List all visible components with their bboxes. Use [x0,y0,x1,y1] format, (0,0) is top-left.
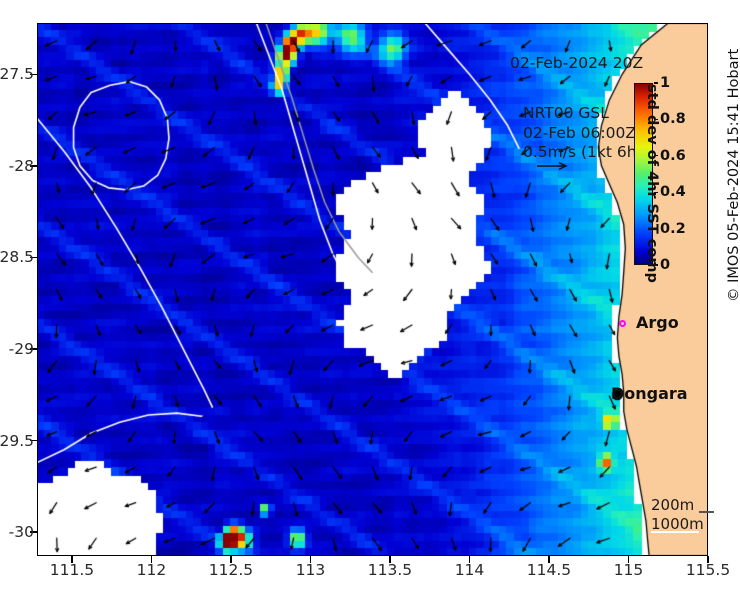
x-tick-label: 114 [455,561,485,579]
y-tick-label: -28 [0,157,34,175]
colorbar-tick-label: 0.6 [660,148,686,164]
colorbar-title: std dev of 4hr SST comp [644,84,660,266]
reference-arrow-icon [536,161,570,171]
sst-map-figure: 02-Feb-2024 20Z NRT00 GSL 02-Feb 06:00Z … [0,0,740,592]
vector-scale-label: 0.5m/s (1kt 6h) [523,143,643,161]
x-tick-label: 112.5 [209,561,253,579]
x-tick-label: 113 [296,561,326,579]
y-tick-label: -29 [0,340,34,358]
colorbar-tick-label: 0 [660,257,670,273]
x-tick-label: 115.5 [686,561,730,579]
colorbar-tick-label: 0.8 [660,111,686,127]
x-tick-label: 115 [614,561,644,579]
argo-legend-label: Argo [636,313,679,332]
x-tick-label: 111.5 [50,561,94,579]
model-info-block: NRT00 GSL 02-Feb 06:00Z 0.5m/s (1kt 6h) [523,104,643,163]
y-tick-label: -28.5 [0,248,34,266]
dongara-place-label: Dongara [611,384,688,403]
depth-200m-line-sample [699,511,714,513]
x-tick-label: 112 [137,561,167,579]
colorbar-tick-label: 0.4 [660,184,686,200]
argo-marker-icon [619,320,626,327]
colorbar-tick-label: 0.2 [660,221,686,237]
depth-contour-key: 200m 1000m [651,496,740,534]
x-tick-label: 113.5 [368,561,412,579]
credit-label: © IMOS 05-Feb-2024 15:41 Hobart [726,49,740,302]
map-plot-area[interactable]: 02-Feb-2024 20Z NRT00 GSL 02-Feb 06:00Z … [37,23,708,556]
depth-1000m-line-sample [651,531,699,533]
y-tick-label: -29.5 [0,432,34,450]
model-name: NRT00 GSL [523,104,609,122]
colorbar-tick-label: 1 [660,75,670,91]
depth-200m-label: 200m [651,496,694,514]
y-tick-label: -30 [0,523,34,541]
y-tick-label: -27.5 [0,65,34,83]
map-overlays-layer [37,23,708,556]
x-tick-label: 114.5 [527,561,571,579]
timestamp-label: 02-Feb-2024 20Z [510,54,643,72]
model-valid-time: 02-Feb 06:00Z [523,124,636,142]
